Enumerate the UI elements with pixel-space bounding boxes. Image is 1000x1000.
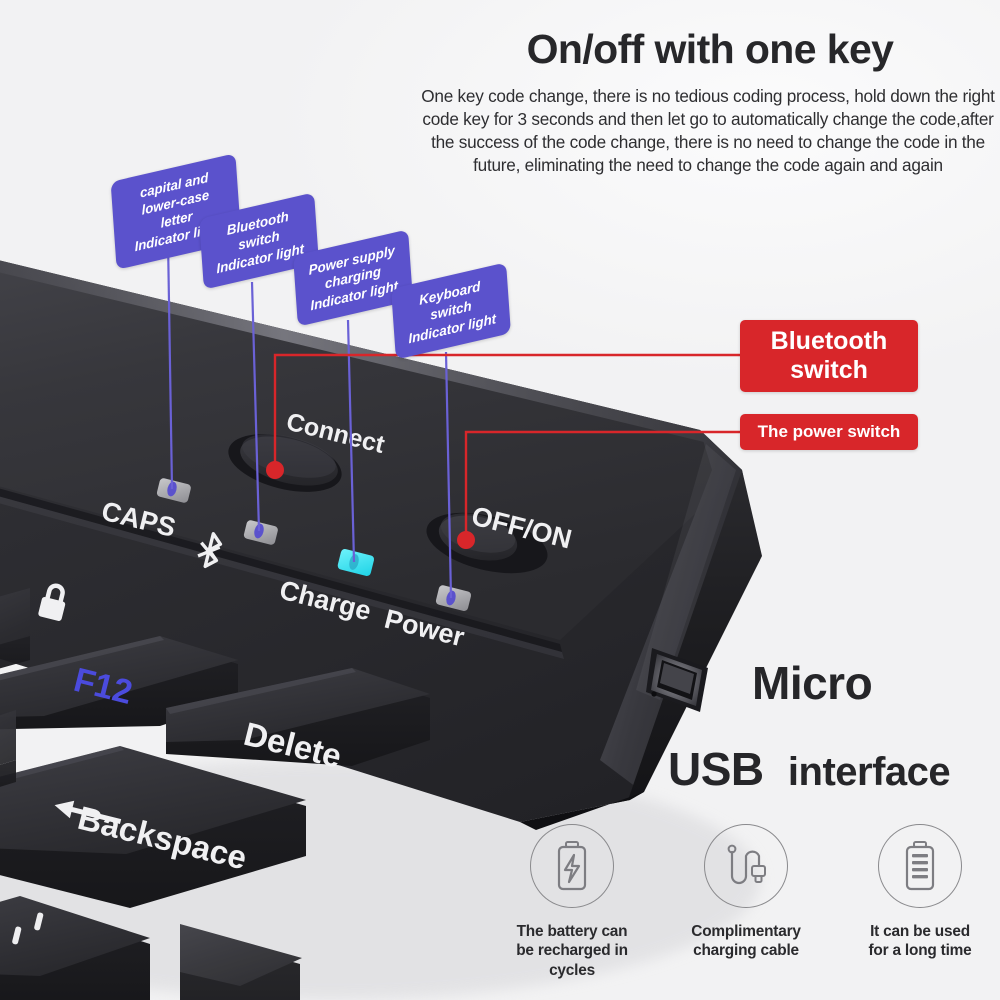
callout-line: Bluetooth (771, 327, 888, 357)
feature-caption-line: be recharged in cycles (492, 941, 652, 980)
callout-bluetooth-switch: Bluetooth switch (740, 320, 918, 392)
feature-caption-line: The battery can (492, 922, 652, 941)
feature-caption: Complimentary charging cable (691, 922, 800, 961)
leader-bluetooth-switch (275, 355, 740, 470)
callout-line: The power switch (758, 422, 901, 442)
battery-charging-icon (549, 840, 595, 892)
usb-label-usb: USB (668, 743, 764, 795)
feature-list: The battery can be recharged in cycles C… (492, 824, 1000, 1000)
usb-label-micro: Micro (752, 656, 872, 710)
feature-caption-line: Complimentary (691, 922, 800, 941)
usb-label-rest: USB interface (668, 742, 950, 796)
feature-caption-line: for a long time (868, 941, 971, 960)
leader-power-switch (466, 432, 740, 540)
feature-caption: It can be used for a long time (868, 922, 971, 961)
feature-caption-line: charging cable (691, 941, 800, 960)
headline-block: On/off with one key One key code change,… (430, 28, 990, 177)
feature-icon-circle (878, 824, 962, 908)
feature-caption: The battery can be recharged in cycles (492, 922, 652, 980)
leader-power (446, 352, 451, 598)
callout-line: switch (790, 356, 868, 386)
feature-icon-circle (530, 824, 614, 908)
leader-caps (168, 240, 172, 489)
feature-caption-line: It can be used (868, 922, 971, 941)
leader-dot-bluetooth-switch (266, 461, 284, 479)
product-feature-image: CAPS Connect OFF/ON Charge Power F12 (0, 0, 1000, 1000)
leader-bluetooth (252, 282, 259, 531)
headline-body: One key code change, there is no tedious… (418, 85, 998, 177)
callout-power-switch: The power switch (740, 414, 918, 450)
usb-cable-icon (722, 840, 770, 892)
leader-charge (348, 320, 354, 562)
usb-label-interface: interface (788, 750, 950, 794)
page-title: On/off with one key (430, 28, 990, 71)
feature-item: It can be used for a long time (840, 824, 1000, 1000)
leader-dot-power-switch (457, 531, 475, 549)
battery-full-icon (898, 840, 942, 892)
feature-item: Complimentary charging cable (666, 824, 826, 1000)
feature-item: The battery can be recharged in cycles (492, 824, 652, 1000)
feature-icon-circle (704, 824, 788, 908)
